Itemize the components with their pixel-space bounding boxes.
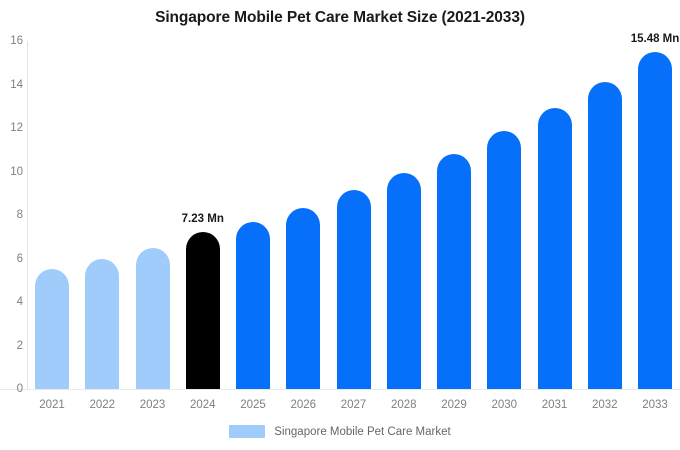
bar-2029[interactable] — [437, 154, 471, 389]
bar-2032[interactable] — [588, 82, 622, 389]
y-tick-label: 2 — [1, 340, 23, 352]
bar-2030[interactable] — [487, 131, 521, 389]
y-tick-label: 16 — [1, 35, 23, 47]
bar-2026[interactable] — [286, 208, 320, 389]
y-tick-label: 6 — [1, 253, 23, 265]
bar-group[interactable] — [236, 41, 270, 389]
bar-2022[interactable] — [85, 259, 119, 390]
bar-2033[interactable] — [638, 52, 672, 389]
legend-swatch — [229, 425, 265, 438]
bar-group[interactable] — [286, 41, 320, 389]
bar-2028[interactable] — [387, 173, 421, 389]
legend-label: Singapore Mobile Pet Care Market — [274, 426, 450, 438]
bar-2021[interactable] — [35, 269, 69, 389]
y-tick-label: 10 — [1, 166, 23, 178]
bar-2025[interactable] — [236, 222, 270, 389]
y-tick-label: 4 — [1, 296, 23, 308]
bar-2027[interactable] — [337, 190, 371, 389]
bar-2031[interactable] — [538, 108, 572, 389]
y-tick-label: 12 — [1, 122, 23, 134]
bar-2023[interactable] — [136, 248, 170, 389]
chart-title: Singapore Mobile Pet Care Market Size (2… — [0, 9, 680, 27]
bar-group[interactable] — [387, 41, 421, 389]
bar-group[interactable] — [538, 41, 572, 389]
bar-value-label: 15.48 Mn — [631, 33, 680, 45]
bar-group[interactable] — [437, 41, 471, 389]
y-tick-label: 8 — [1, 209, 23, 221]
y-tick-label: 0 — [1, 383, 23, 395]
bar-group[interactable]: 15.48 Mn — [638, 41, 672, 389]
bar-group[interactable] — [487, 41, 521, 389]
bar-2024[interactable] — [186, 232, 220, 389]
bar-group[interactable] — [337, 41, 371, 389]
bar-value-label: 7.23 Mn — [182, 213, 224, 225]
legend-item[interactable]: Singapore Mobile Pet Care Market — [229, 425, 450, 438]
bar-chart: Singapore Mobile Pet Care Market Size (2… — [0, 0, 680, 450]
bar-group[interactable]: 7.23 Mn — [186, 41, 220, 389]
x-axis-line — [0, 389, 680, 390]
bar-group[interactable] — [588, 41, 622, 389]
chart-legend: Singapore Mobile Pet Care Market — [0, 425, 680, 438]
x-tick-label: 2033 — [625, 399, 680, 411]
bar-group[interactable] — [35, 41, 69, 389]
bar-group[interactable] — [136, 41, 170, 389]
y-tick-label: 14 — [1, 79, 23, 91]
y-axis-tick-labels: 1614121086420 — [0, 0, 23, 450]
bar-group[interactable] — [85, 41, 119, 389]
plot-area: 7.23 Mn15.48 Mn — [27, 41, 675, 389]
